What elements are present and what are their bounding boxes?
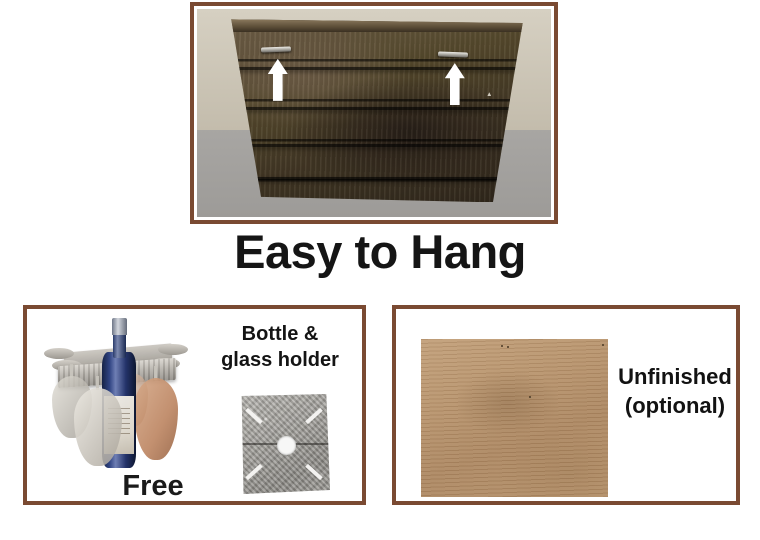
rig-tab — [44, 348, 74, 359]
unfinished-label: Unfinished (optional) — [611, 362, 733, 421]
plank-seam — [225, 177, 522, 180]
wine-glass — [134, 378, 178, 460]
glass-bowl — [74, 388, 122, 466]
bottle-foil-cap — [112, 318, 127, 335]
stone-holder-plate-photo — [238, 394, 330, 494]
wood-fleck — [501, 345, 503, 347]
free-panel-inner: Free Bottle & glass holder — [30, 312, 359, 498]
unfinished-label-line1: Unfinished — [611, 362, 733, 391]
plank-seam — [225, 107, 522, 110]
glass-bowl — [134, 378, 178, 460]
glass-stem-slot — [305, 464, 323, 480]
wood-fleck — [602, 344, 604, 346]
holder-label-line2: glass holder — [200, 348, 359, 374]
rustic-wood-wall-rack-photo — [197, 9, 551, 217]
hanging-bracket-right — [438, 51, 468, 57]
holder-label-line1: Bottle & — [200, 322, 359, 348]
plank-seam — [225, 144, 522, 147]
unfinished-label-line2: (optional) — [611, 391, 733, 420]
glass-stem-slot — [245, 464, 263, 480]
bottle-glass-holder-label: Bottle & glass holder — [200, 322, 359, 373]
wood-fleck — [529, 396, 531, 398]
bottle-and-glass-rig-photo — [46, 318, 191, 473]
hero-photo-inner — [197, 9, 551, 217]
glass-stem-slot — [245, 408, 263, 424]
hero-photo-panel — [190, 2, 558, 224]
rig-tab — [158, 344, 188, 355]
unfinished-panel-inner: Unfinished (optional) — [399, 312, 733, 498]
unfinished-wood-swatch-photo — [421, 339, 608, 497]
wine-glass — [74, 388, 122, 466]
glass-stem-slot — [305, 408, 323, 424]
rack-top-edge — [228, 19, 522, 32]
free-label: Free — [88, 470, 218, 498]
bottle-neck-hole — [277, 436, 296, 455]
free-bottle-holder-panel: Free Bottle & glass holder — [23, 305, 366, 505]
plank-seam — [225, 67, 522, 70]
wood-fleck — [507, 346, 509, 348]
page-title: Easy to Hang — [0, 227, 760, 277]
unfinished-option-panel: Unfinished (optional) — [392, 305, 740, 505]
